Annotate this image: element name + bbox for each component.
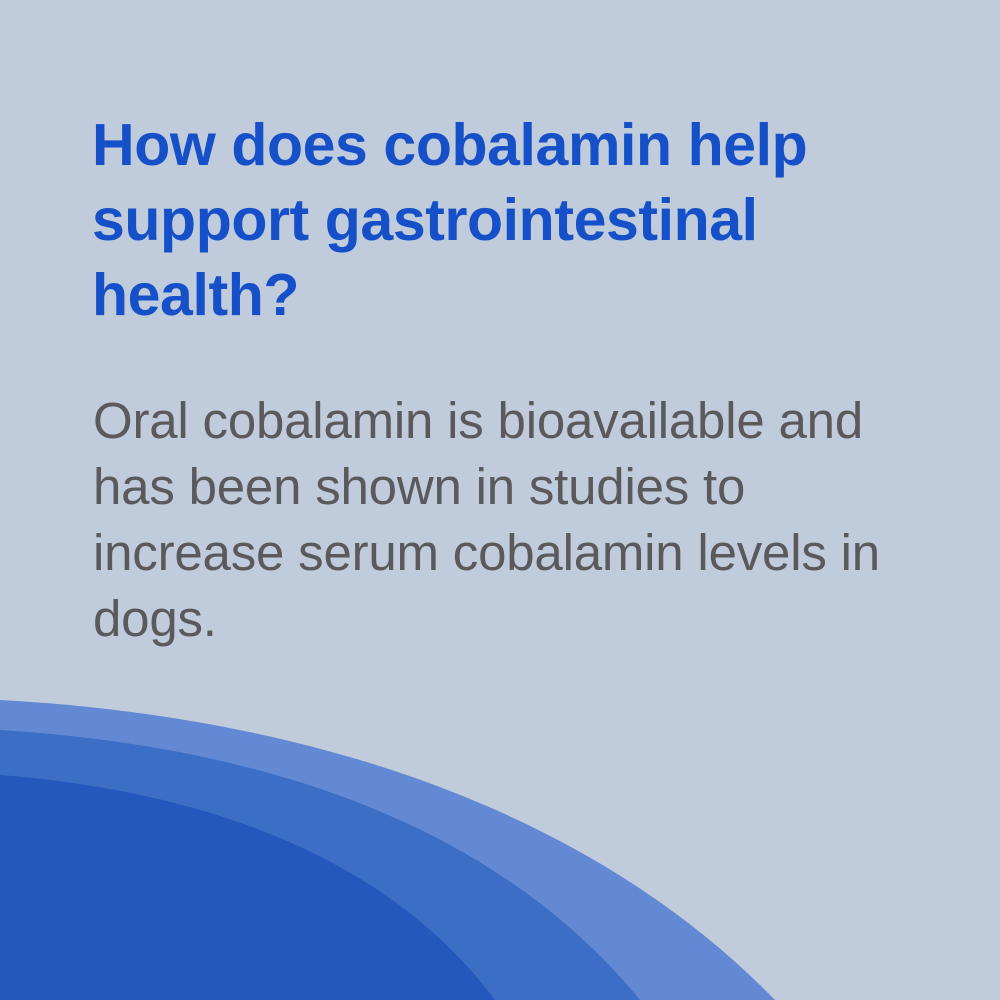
text-content-block: How does cobalamin help support gastroin… bbox=[0, 0, 1000, 1000]
infographic-card: How does cobalamin help support gastroin… bbox=[0, 0, 1000, 1000]
page-title: How does cobalamin help support gastroin… bbox=[92, 108, 922, 333]
body-paragraph: Oral cobalamin is bioavailable and has b… bbox=[93, 388, 893, 652]
